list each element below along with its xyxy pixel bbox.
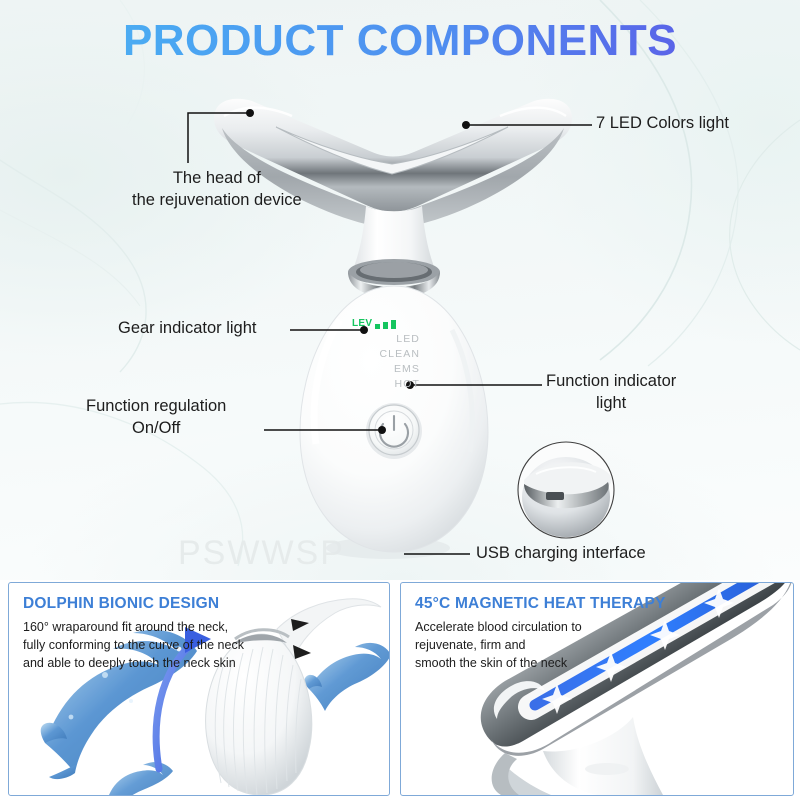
callout-led-colors-label: 7 LED Colors light [596, 113, 729, 135]
callout-function-regulation-label: Function regulation On/Off [86, 396, 226, 440]
level-bar-1 [375, 324, 380, 329]
leader-dot-power [378, 426, 386, 434]
usb-port-opening [546, 492, 564, 500]
product-components-infographic: PRODUCT COMPONENTS PSWWSP [0, 0, 800, 800]
callout-usb-label: USB charging interface [476, 543, 646, 565]
device-svg [0, 0, 800, 580]
device-illustration [0, 0, 800, 580]
callout-function-indicator-label: Function indicator light [546, 371, 676, 415]
level-bar-3 [391, 320, 396, 329]
mode-ems: EMS [352, 362, 420, 377]
feature-panels: DOLPHIN BIONIC DESIGN 160° wraparound fi… [0, 578, 800, 800]
mode-led: LED [352, 332, 420, 347]
panel-dolphin-bionic-design: DOLPHIN BIONIC DESIGN 160° wraparound fi… [8, 582, 390, 796]
leader-dot-led [462, 121, 470, 129]
mode-hot: HOT [352, 377, 420, 392]
dolphin-panel-art [9, 583, 389, 795]
level-label: LEV [352, 318, 372, 329]
callout-gear-indicator-label: Gear indicator light [118, 318, 257, 340]
dolphin-small [109, 762, 173, 795]
device-indicator-panel: LEV LED CLEAN EMS HOT [352, 318, 438, 392]
function-mode-list: LED CLEAN EMS HOT [352, 332, 420, 392]
panel-heat-body: Accelerate blood circulation to rejuvena… [415, 619, 582, 672]
panel-dolphin-title: DOLPHIN BIONIC DESIGN [23, 595, 219, 613]
callout-head-label: The head of the rejuvenation device [132, 168, 302, 212]
panel-dolphin-body: 160° wraparound fit around the neck, ful… [23, 619, 244, 672]
mode-clean: CLEAN [352, 347, 420, 362]
panel-heat-title: 45°C MAGNETIC HEAT THERAPY [415, 595, 666, 613]
level-bar-2 [383, 322, 388, 329]
level-indicator: LEV [352, 318, 438, 329]
leader-dot-head [246, 109, 254, 117]
dolphin-right [305, 643, 390, 711]
heat-panel-art [401, 583, 793, 795]
panel-magnetic-heat-therapy: 45°C MAGNETIC HEAT THERAPY Accelerate bl… [400, 582, 794, 796]
